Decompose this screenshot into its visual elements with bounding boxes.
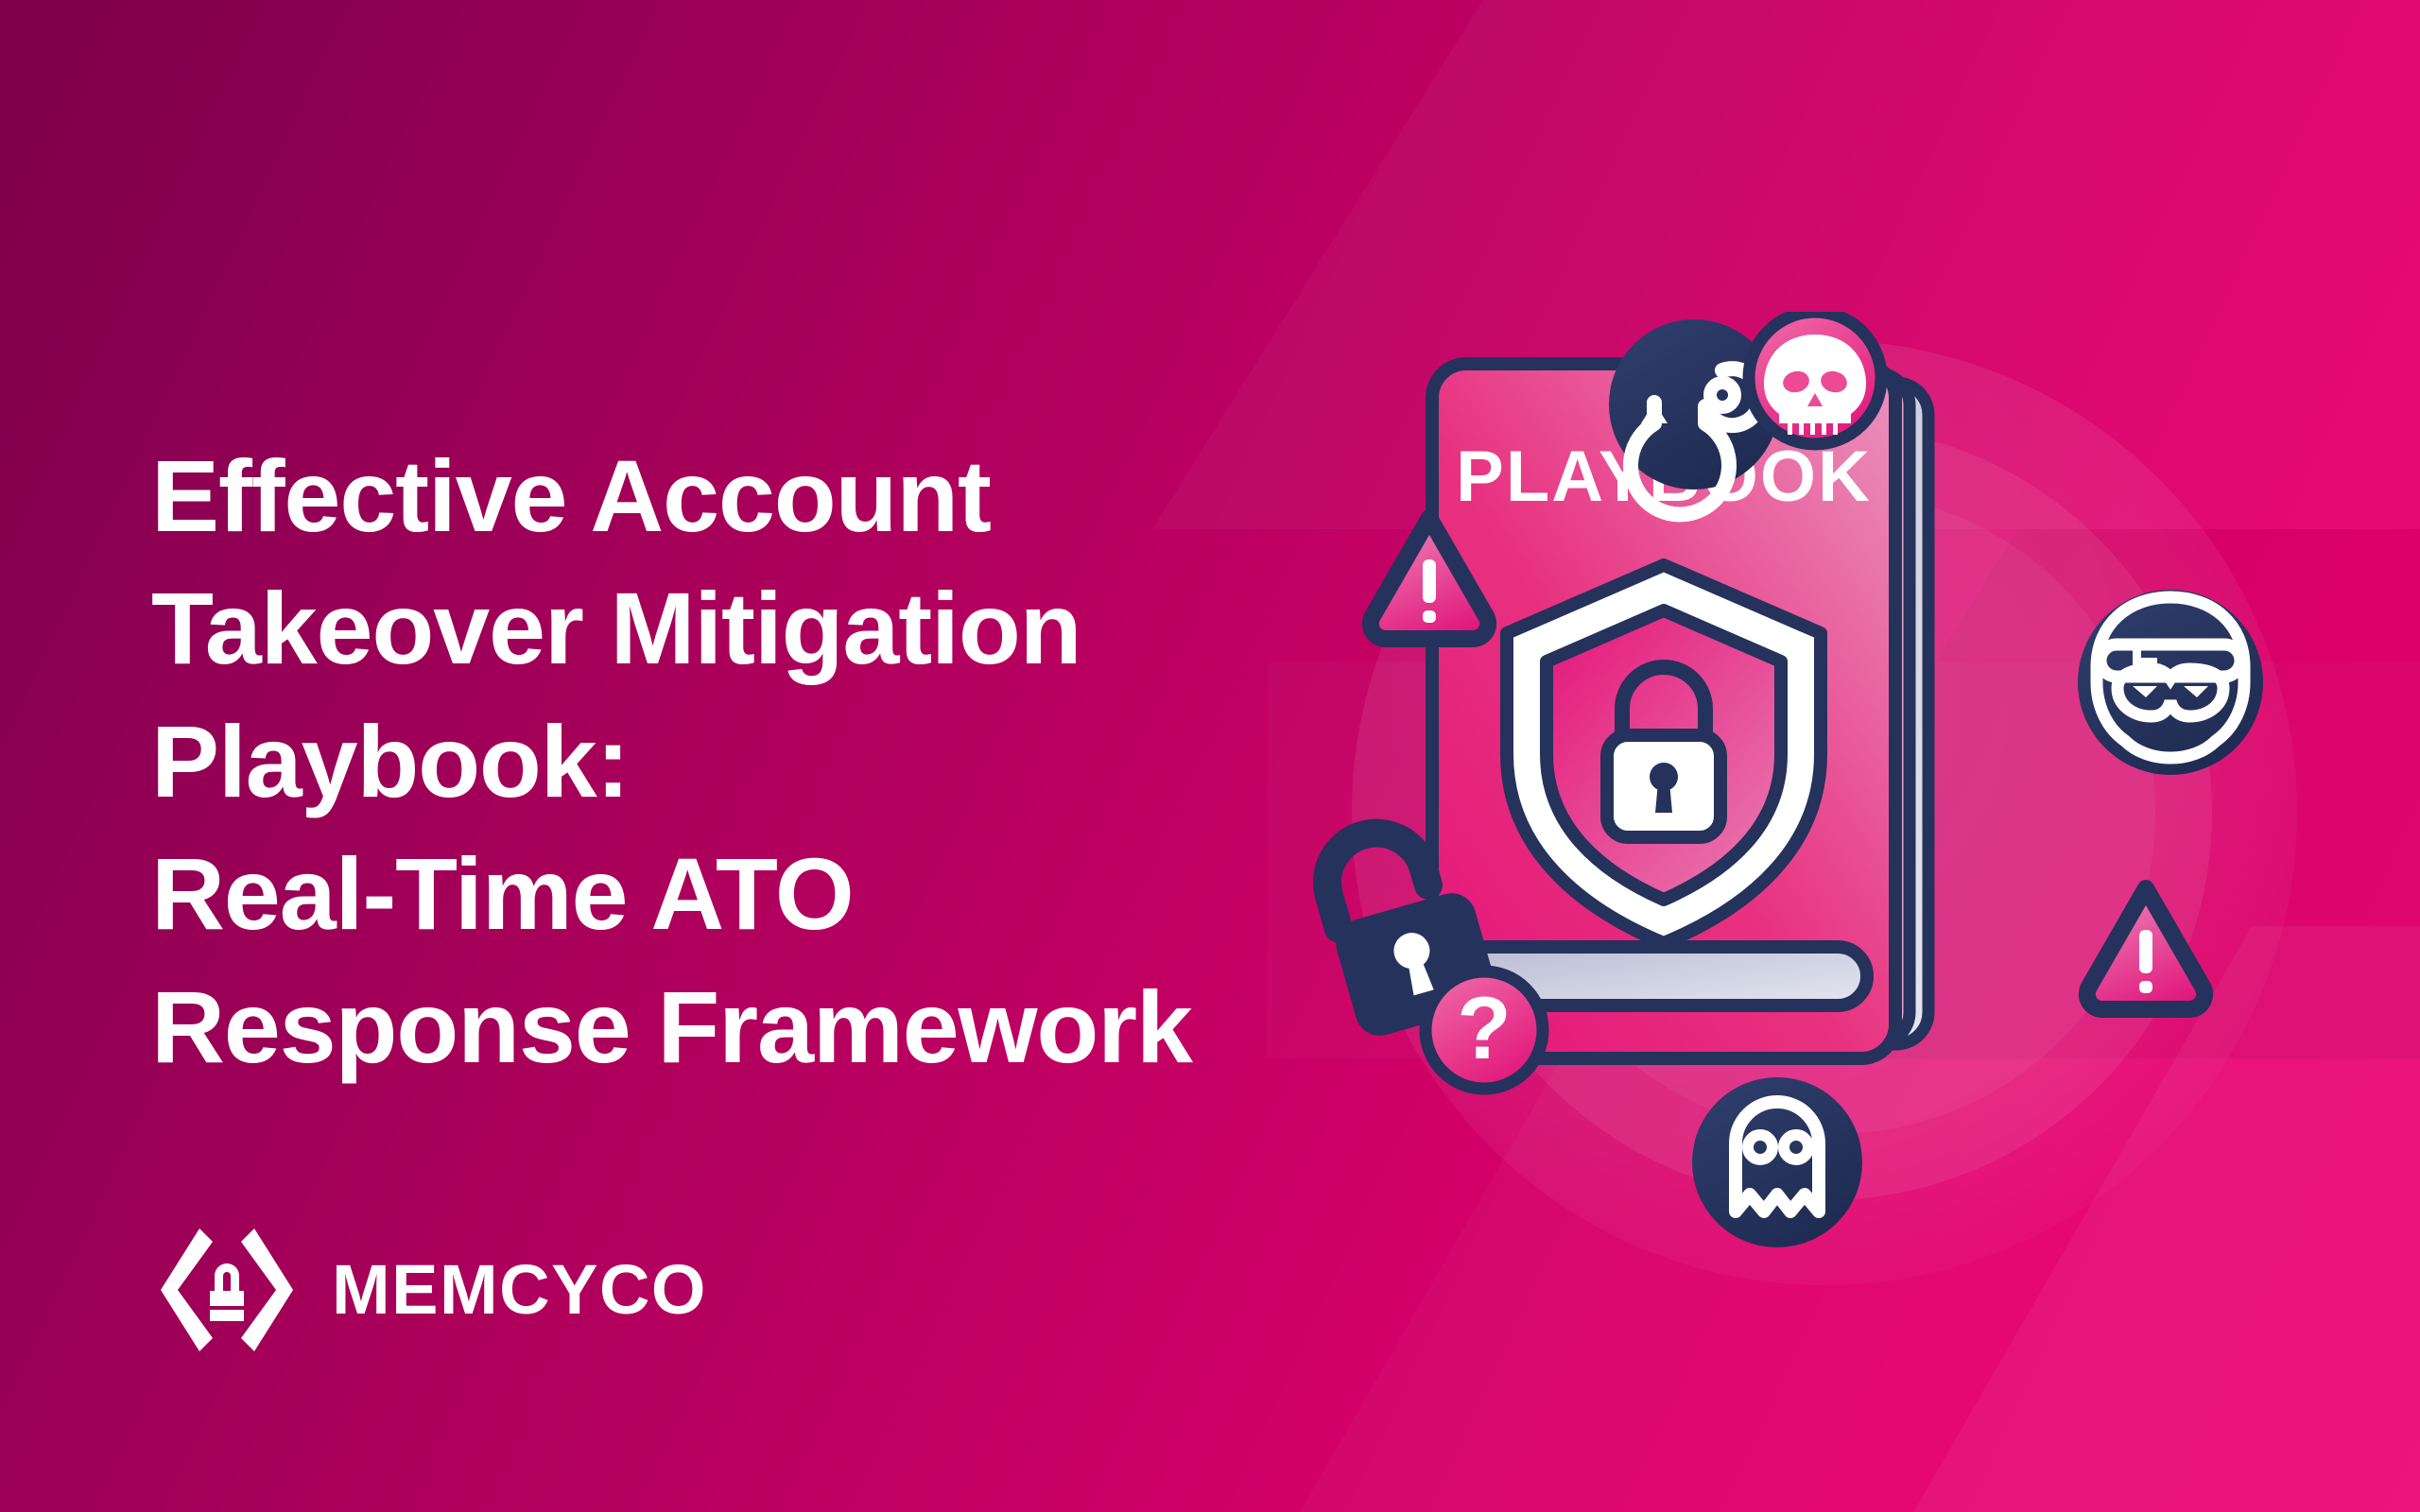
skull-icon — [1749, 312, 1881, 444]
headline-line-2: Takeover Mitigation — [151, 562, 1399, 695]
headline-line-3: Playbook: — [151, 696, 1399, 828]
headline-line-5: Response Framework — [151, 961, 1399, 1093]
thief-mask-icon — [2078, 590, 2263, 775]
logo-wordmark: MEMCYCO — [332, 1255, 707, 1325]
page-title: Effective Account Takeover Mitigation Pl… — [151, 430, 1399, 1093]
headline-line-1: Effective Account — [151, 430, 1399, 562]
headline-line-4: Real-Time ATO — [151, 828, 1399, 960]
playbook-illustration: PLAYBOOK — [1286, 312, 2344, 1332]
question-mark-icon: ? — [1426, 971, 1543, 1089]
svg-text:?: ? — [1457, 978, 1511, 1077]
banner-canvas: Effective Account Takeover Mitigation Pl… — [0, 0, 2420, 1512]
memcyco-logo: MEMCYCO — [156, 1219, 707, 1361]
warning-triangle-icon-right — [2087, 888, 2204, 1009]
angle-brackets-padlock-logo-icon — [156, 1219, 298, 1361]
ghost-icon — [1692, 1077, 1862, 1247]
